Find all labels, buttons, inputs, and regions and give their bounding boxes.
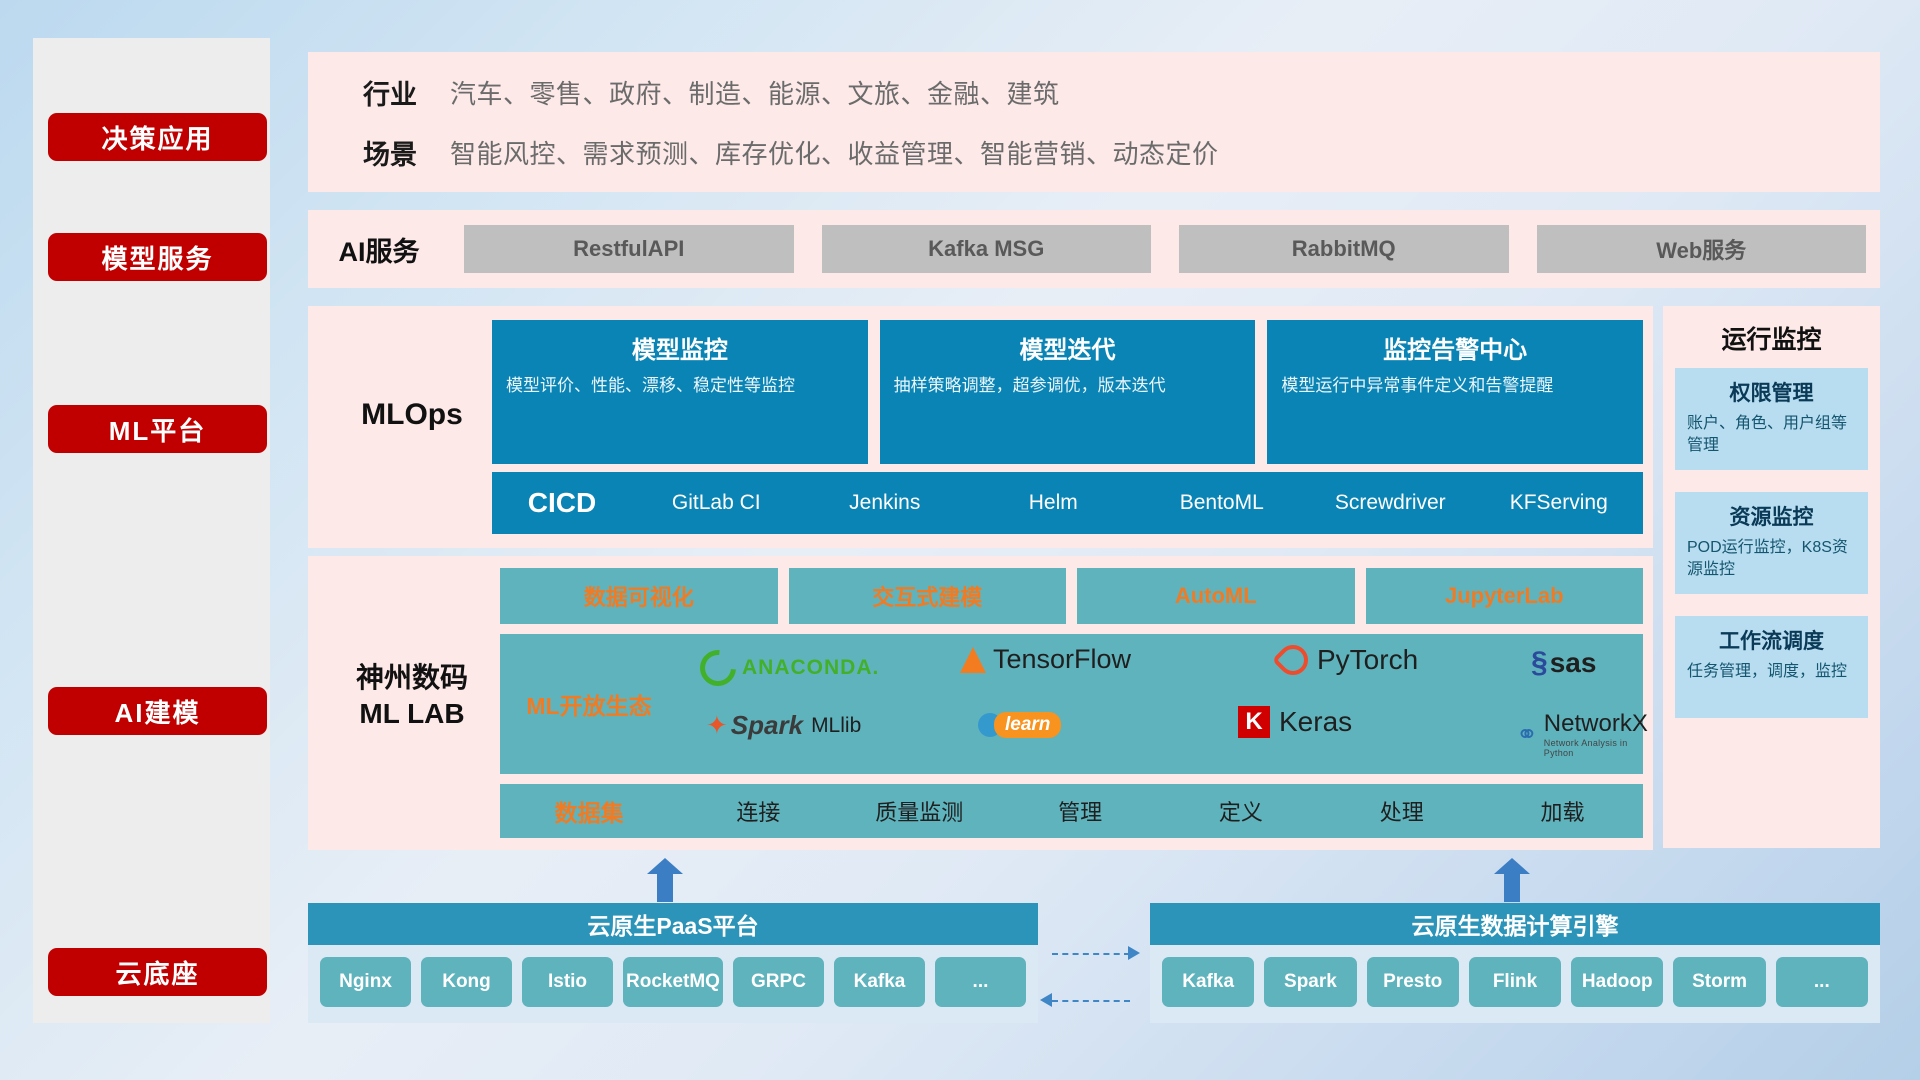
card-desc: 任务管理，调度，监控 (1687, 661, 1856, 683)
cicd-item-jenkins[interactable]: Jenkins (801, 492, 970, 514)
industry-text: 汽车、零售、政府、制造、能源、文旅、金融、建筑 (450, 74, 1060, 111)
networkx-icon: ⚭ (1516, 719, 1538, 750)
chip-hadoop[interactable]: Hadoop (1571, 957, 1663, 1007)
chip-kafka-right[interactable]: Kafka (1162, 957, 1254, 1007)
dataset-item-connect[interactable]: 连接 (678, 795, 839, 827)
mlops-label: MLOps (332, 398, 492, 432)
tile-interactive-modeling[interactable]: 交互式建模 (789, 568, 1067, 624)
pytorch-icon (1272, 639, 1314, 681)
dataset-item-loading[interactable]: 加载 (1482, 795, 1643, 827)
card-desc: 模型运行中异常事件定义和告警提醒 (1281, 374, 1629, 399)
chip-more-left[interactable]: ... (935, 957, 1026, 1007)
networkx-text-group: NetworkX Network Analysis in Python (1544, 710, 1648, 758)
rail-item-model-service[interactable]: 模型服务 (48, 233, 267, 281)
scikit-learn-logo: learn (978, 712, 1061, 738)
pytorch-logo: PyTorch (1278, 644, 1418, 676)
ml-lab-label: 神州数码 ML LAB (326, 660, 498, 732)
card-title: 资源监控 (1687, 501, 1856, 531)
mlops-cards: 模型监控 模型评价、性能、漂移、稳定性等监控 模型迭代 抽样策略调整，超参调优，… (492, 320, 1643, 464)
arrow-shaft (1504, 872, 1520, 902)
dataset-item-quality-monitoring[interactable]: 质量监测 (839, 795, 1000, 827)
card-title: 模型迭代 (894, 330, 1242, 365)
mlops-band: MLOps 模型监控 模型评价、性能、漂移、稳定性等监控 模型迭代 抽样策略调整… (308, 306, 1653, 548)
sas-label: sas (1550, 647, 1597, 679)
cicd-row: CICD GitLab CI Jenkins Helm BentoML Scre… (492, 472, 1643, 534)
cloud-data-engine-title: 云原生数据计算引擎 (1150, 903, 1880, 945)
service-kafka-msg[interactable]: Kafka MSG (822, 225, 1152, 273)
card-title: 模型监控 (506, 330, 854, 365)
sas-logo: § sas (1531, 646, 1596, 680)
mlops-card-alert-center[interactable]: 监控告警中心 模型运行中异常事件定义和告警提醒 (1267, 320, 1643, 464)
tile-automl[interactable]: AutoML (1077, 568, 1355, 624)
keras-icon: K (1238, 706, 1270, 738)
cloud-data-engine-panel: 云原生数据计算引擎 Kafka Spark Presto Flink Hadoo… (1150, 903, 1880, 1023)
cicd-label: CICD (492, 487, 632, 519)
dashed-line-right (1052, 953, 1130, 955)
rail-item-decision-app[interactable]: 决策应用 (48, 113, 267, 161)
scenario-row: 场景 智能风控、需求预测、库存优化、收益管理、智能营销、动态定价 (308, 122, 1880, 182)
arrow-up-paas (647, 858, 683, 902)
architecture-diagram: 决策应用 模型服务 ML平台 AI建模 云底座 行业 汽车、零售、政府、制造、能… (0, 0, 1920, 1080)
spark-icon: ✦ (706, 710, 728, 741)
cloud-paas-title: 云原生PaaS平台 (308, 903, 1038, 945)
mllib-label: MLlib (811, 714, 861, 738)
keras-logo: K Keras (1238, 706, 1352, 738)
ml-open-ecosystem: ML开放生态 ANACONDA. TensorFlow PyTorch § sa… (500, 634, 1643, 774)
tile-data-visualization[interactable]: 数据可视化 (500, 568, 778, 624)
run-monitor-column: 运行监控 权限管理 账户、角色、用户组等管理 资源监控 POD运行监控，K8S资… (1663, 306, 1880, 848)
anaconda-logo: ANACONDA. (700, 650, 879, 686)
dataset-label: 数据集 (500, 794, 678, 828)
card-title: 监控告警中心 (1281, 330, 1629, 365)
dashed-arrow-right-icon (1128, 946, 1140, 960)
scenario-text: 智能风控、需求预测、库存优化、收益管理、智能营销、动态定价 (450, 134, 1219, 171)
dashed-line-left (1052, 1000, 1130, 1002)
card-desc: 抽样策略调整，超参调优，版本迭代 (894, 374, 1242, 399)
chip-spark[interactable]: Spark (1264, 957, 1356, 1007)
anaconda-label: ANACONDA. (742, 656, 879, 680)
chip-flink[interactable]: Flink (1469, 957, 1561, 1007)
dataset-row: 数据集 连接 质量监测 管理 定义 处理 加载 (500, 784, 1643, 838)
cicd-item-bentoml[interactable]: BentoML (1138, 492, 1307, 514)
industry-row: 行业 汽车、零售、政府、制造、能源、文旅、金融、建筑 (308, 62, 1880, 122)
service-web[interactable]: Web服务 (1537, 225, 1867, 273)
card-desc: 账户、角色、用户组等管理 (1687, 413, 1856, 458)
cloud-paas-panel: 云原生PaaS平台 Nginx Kong Istio RocketMQ GRPC… (308, 903, 1038, 1023)
cloud-data-engine-chips: Kafka Spark Presto Flink Hadoop Storm ..… (1150, 945, 1880, 1007)
pytorch-label: PyTorch (1317, 644, 1418, 676)
modeling-tiles: 数据可视化 交互式建模 AutoML JupyterLab (500, 568, 1643, 624)
dataset-item-management[interactable]: 管理 (1000, 795, 1161, 827)
ai-modeling-band: 神州数码 ML LAB 数据可视化 交互式建模 AutoML JupyterLa… (308, 556, 1653, 850)
eco-label: ML开放生态 (500, 687, 678, 721)
mlops-card-model-iteration[interactable]: 模型迭代 抽样策略调整，超参调优，版本迭代 (880, 320, 1256, 464)
cicd-item-helm[interactable]: Helm (969, 492, 1138, 514)
card-title: 工作流调度 (1687, 625, 1856, 655)
tile-jupyterlab[interactable]: JupyterLab (1366, 568, 1644, 624)
chip-grpc[interactable]: GRPC (733, 957, 824, 1007)
service-restfulapi[interactable]: RestfulAPI (464, 225, 794, 273)
cloud-paas-chips: Nginx Kong Istio RocketMQ GRPC Kafka ... (308, 945, 1038, 1007)
dataset-item-processing[interactable]: 处理 (1321, 795, 1482, 827)
chip-nginx[interactable]: Nginx (320, 957, 411, 1007)
chip-rocketmq[interactable]: RocketMQ (623, 957, 723, 1007)
industry-label: 行业 (330, 73, 450, 112)
chip-storm[interactable]: Storm (1673, 957, 1765, 1007)
ai-service-label: AI服务 (308, 230, 450, 269)
scikit-learn-label: learn (994, 712, 1061, 738)
chip-kafka[interactable]: Kafka (834, 957, 925, 1007)
rail-item-ai-modeling[interactable]: AI建模 (48, 687, 267, 735)
monitor-card-permission[interactable]: 权限管理 账户、角色、用户组等管理 (1675, 368, 1868, 470)
card-title: 权限管理 (1687, 377, 1856, 407)
rail-item-ml-platform[interactable]: ML平台 (48, 405, 267, 453)
chip-kong[interactable]: Kong (421, 957, 512, 1007)
cicd-item-kfserving[interactable]: KFServing (1475, 492, 1644, 514)
spark-label: Spark (731, 710, 803, 741)
networkx-label: NetworkX (1544, 710, 1648, 738)
tensorflow-label: TensorFlow (993, 644, 1131, 675)
eco-logos: ANACONDA. TensorFlow PyTorch § sas ✦ Spa… (678, 634, 1643, 774)
anaconda-icon (693, 643, 744, 694)
chip-more-right[interactable]: ... (1776, 957, 1868, 1007)
monitor-card-resource[interactable]: 资源监控 POD运行监控，K8S资源监控 (1675, 492, 1868, 594)
chip-presto[interactable]: Presto (1367, 957, 1459, 1007)
mlops-card-model-monitoring[interactable]: 模型监控 模型评价、性能、漂移、稳定性等监控 (492, 320, 868, 464)
scenario-label: 场景 (330, 133, 450, 172)
ml-lab-label-line1: 神州数码 (326, 660, 498, 696)
industry-scenario-band: 行业 汽车、零售、政府、制造、能源、文旅、金融、建筑 场景 智能风控、需求预测、… (308, 52, 1880, 192)
rail-item-cloud-base[interactable]: 云底座 (48, 948, 267, 996)
arrow-up-data-engine (1494, 858, 1530, 902)
ml-lab-label-line2: ML LAB (326, 696, 498, 732)
keras-label: Keras (1279, 706, 1352, 738)
networkx-logo: ⚭ NetworkX Network Analysis in Python (1516, 710, 1648, 758)
run-monitor-title: 运行监控 (1663, 320, 1880, 356)
monitor-card-workflow[interactable]: 工作流调度 任务管理，调度，监控 (1675, 616, 1868, 718)
card-desc: POD运行监控，K8S资源监控 (1687, 537, 1856, 582)
sas-icon: § (1531, 646, 1548, 680)
dashed-arrow-left-icon (1040, 993, 1052, 1007)
tensorflow-icon (960, 647, 986, 673)
tensorflow-logo: TensorFlow (960, 644, 1131, 675)
arrow-shaft (657, 872, 673, 902)
ai-service-band: AI服务 RestfulAPI Kafka MSG RabbitMQ Web服务 (308, 210, 1880, 288)
left-rail (33, 38, 270, 1023)
cicd-item-gitlab-ci[interactable]: GitLab CI (632, 492, 801, 514)
service-rabbitmq[interactable]: RabbitMQ (1179, 225, 1509, 273)
networkx-sublabel: Network Analysis in Python (1544, 738, 1648, 758)
cicd-item-screwdriver[interactable]: Screwdriver (1306, 492, 1475, 514)
chip-istio[interactable]: Istio (522, 957, 613, 1007)
card-desc: 模型评价、性能、漂移、稳定性等监控 (506, 374, 854, 399)
dataset-item-definition[interactable]: 定义 (1160, 795, 1321, 827)
spark-mllib-logo: ✦ Spark MLlib (706, 710, 861, 741)
